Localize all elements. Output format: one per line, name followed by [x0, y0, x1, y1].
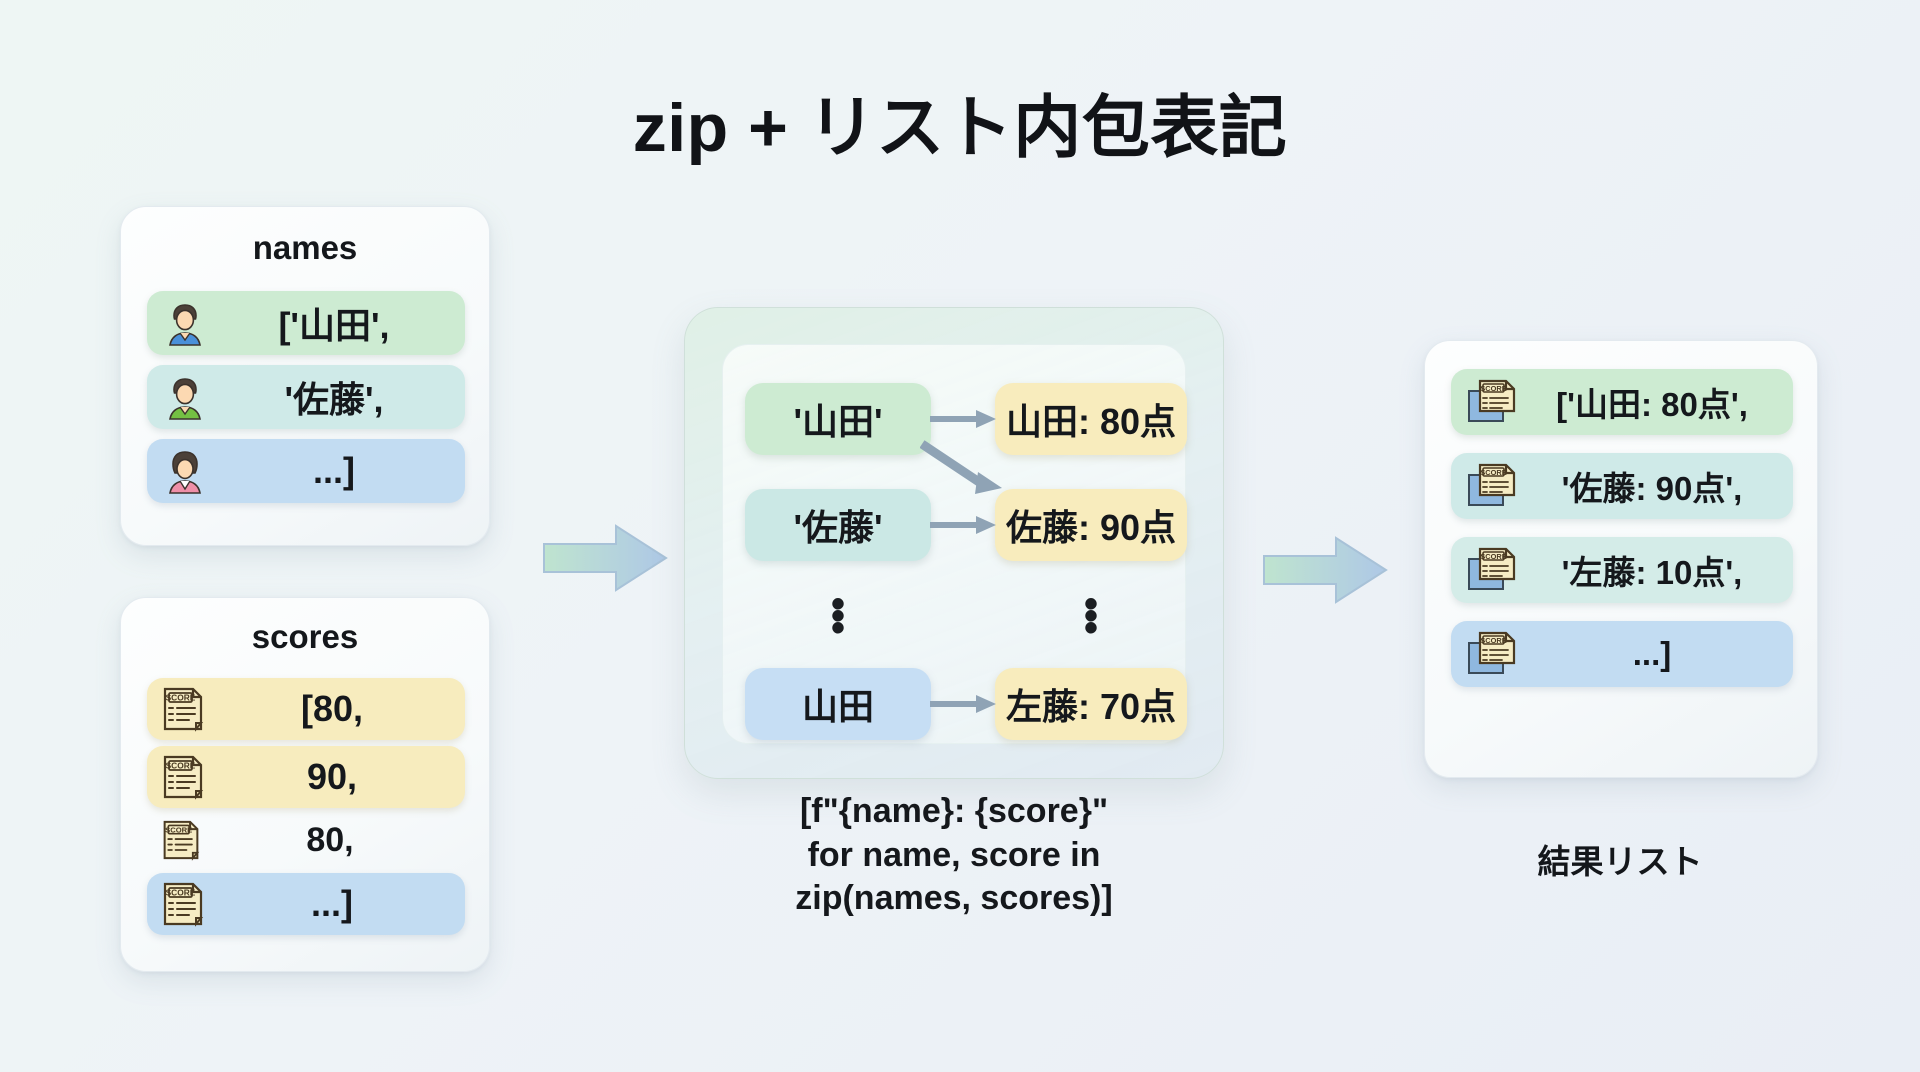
result-card: SCORE ['山田: 80点', SCORE '佐藤: 90点', SCORE: [1424, 340, 1818, 778]
mapping-source-label: '山田': [793, 393, 882, 445]
names-row-label: '佐藤',: [223, 371, 451, 423]
names-row[interactable]: ['山田',: [147, 291, 465, 355]
names-row-label: ...]: [223, 450, 451, 492]
score-document-icon: SCORE: [1465, 547, 1517, 593]
flow-arrow-left: [540, 518, 670, 598]
mapping-result-box[interactable]: 佐藤: 90点: [995, 489, 1187, 561]
person-icon: [161, 447, 209, 495]
score-document-icon: SCORE: [161, 686, 205, 732]
mapping-result-box[interactable]: 山田: 80点: [995, 383, 1187, 455]
mapping-result-box[interactable]: 左藤: 70点: [995, 668, 1187, 740]
mapping-source-box[interactable]: '山田': [745, 383, 931, 455]
flow-arrow-right: [1260, 530, 1390, 610]
comprehension-code: [f"{name}: {score}" for name, score in z…: [684, 790, 1224, 921]
svg-text:SCORE: SCORE: [166, 888, 196, 898]
scores-row[interactable]: SCORE 90,: [147, 746, 465, 808]
result-row[interactable]: SCORE '佐藤: 90点',: [1451, 453, 1793, 519]
scores-row[interactable]: SCORE ...]: [147, 873, 465, 935]
svg-text:SCORE: SCORE: [166, 693, 196, 703]
names-row-label: ['山田',: [223, 297, 451, 349]
scores-row-label: 80,: [215, 821, 451, 860]
pair-arrow-2-icon: [930, 510, 998, 540]
svg-text:SCORE: SCORE: [1480, 468, 1506, 477]
code-line: zip(names, scores)]: [684, 877, 1224, 921]
result-row-label: '佐藤: 90点',: [1531, 462, 1779, 510]
names-row[interactable]: ...]: [147, 439, 465, 503]
svg-text:SCORE: SCORE: [1480, 552, 1506, 561]
score-document-icon: SCORE: [1465, 631, 1517, 677]
svg-text:SCORE: SCORE: [166, 761, 196, 771]
scores-card: scores SCORE [80, SCORE 90,: [120, 597, 490, 972]
score-document-icon: SCORE: [161, 819, 201, 861]
result-row-label: '左藤: 10点',: [1531, 546, 1779, 594]
score-document-icon: SCORE: [161, 754, 205, 800]
result-row-label: ...]: [1531, 635, 1779, 673]
pair-arrow-1-icon: [930, 404, 998, 434]
mapping-source-box[interactable]: 山田: [745, 668, 931, 740]
pair-arrow-4-icon: [930, 689, 998, 719]
result-row[interactable]: SCORE '左藤: 10点',: [1451, 537, 1793, 603]
mapping-result-ellipsis: •••: [1071, 598, 1111, 634]
pair-arrow-cross-icon: [920, 440, 1006, 510]
scores-row[interactable]: SCORE 80,: [147, 811, 465, 869]
result-row[interactable]: SCORE ...]: [1451, 621, 1793, 687]
mapping-result-label: 佐藤: 90点: [1006, 499, 1176, 551]
svg-text:SCORE: SCORE: [165, 825, 192, 834]
scores-row[interactable]: SCORE [80,: [147, 678, 465, 740]
mapping-result-label: 左藤: 70点: [1006, 678, 1176, 730]
result-row-label: ['山田: 80点',: [1531, 378, 1779, 426]
mapping-source-ellipsis: •••: [818, 598, 858, 634]
names-card: names ['山田', '佐藤', ...]: [120, 206, 490, 546]
page-title: zip + リスト内包表記: [0, 72, 1920, 171]
code-line: [f"{name}: {score}": [684, 790, 1224, 834]
scores-row-label: ...]: [219, 883, 451, 925]
result-row[interactable]: SCORE ['山田: 80点',: [1451, 369, 1793, 435]
scores-row-label: 90,: [219, 756, 451, 798]
scores-card-title: scores: [121, 618, 489, 656]
score-document-icon: SCORE: [1465, 379, 1517, 425]
score-document-icon: SCORE: [161, 881, 205, 927]
svg-text:SCORE: SCORE: [1480, 636, 1506, 645]
mapping-source-label: 山田: [802, 678, 874, 730]
score-document-icon: SCORE: [1465, 463, 1517, 509]
mapping-source-box[interactable]: '佐藤': [745, 489, 931, 561]
names-card-title: names: [121, 229, 489, 267]
names-row[interactable]: '佐藤',: [147, 365, 465, 429]
mapping-source-label: '佐藤': [793, 499, 882, 551]
result-card-caption: 結果リスト: [1420, 835, 1820, 883]
scores-row-label: [80,: [219, 688, 451, 730]
mapping-result-label: 山田: 80点: [1006, 393, 1176, 445]
person-icon: [161, 373, 209, 421]
person-icon: [161, 299, 209, 347]
code-line: for name, score in: [684, 834, 1224, 878]
svg-text:SCORE: SCORE: [1480, 384, 1506, 393]
